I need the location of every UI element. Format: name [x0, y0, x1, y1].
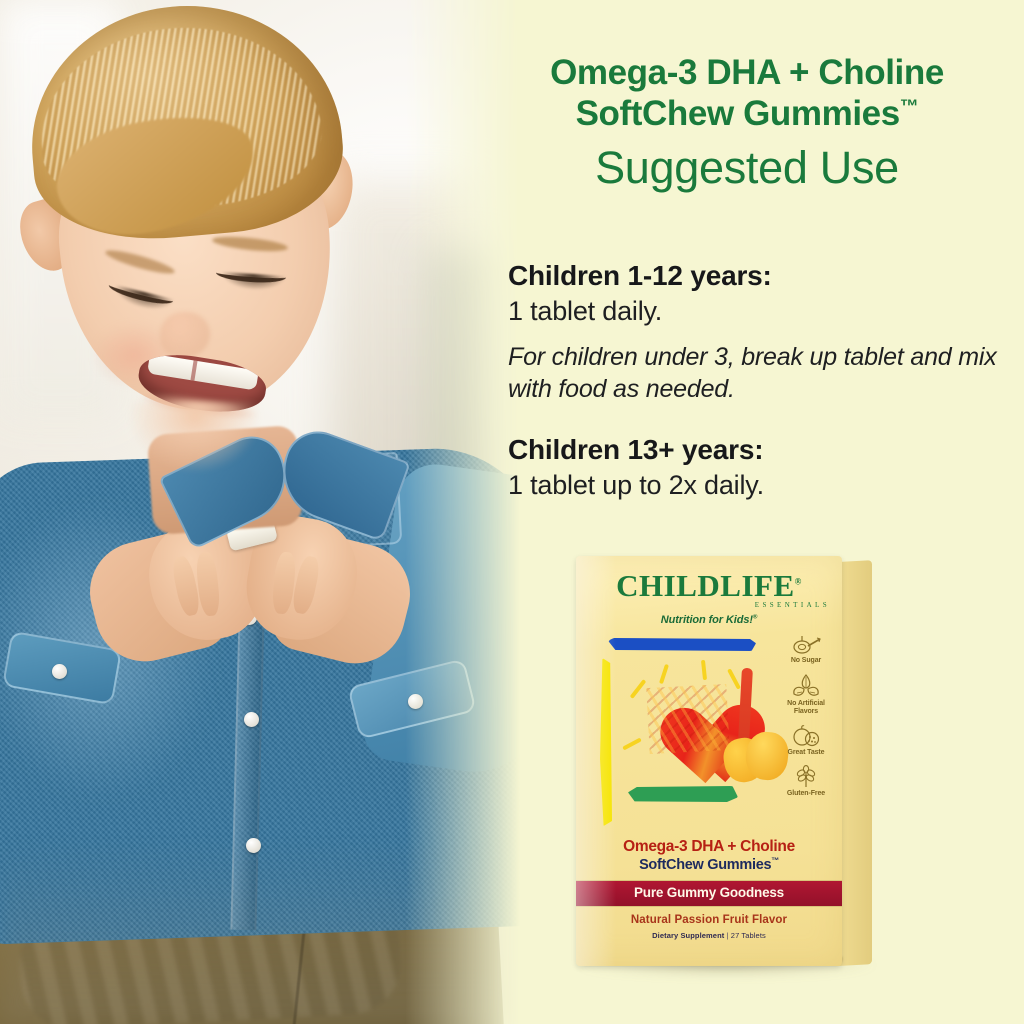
dosage-amount: 1 tablet daily.	[508, 294, 1008, 329]
dosage-note: For children under 3, break up tablet an…	[508, 341, 1008, 406]
dosage-amount: 1 tablet up to 2x daily.	[508, 468, 1008, 503]
product-box-copy: Omega-3 DHA + Choline SoftChew Gummies™ …	[576, 838, 842, 940]
brand-wordmark: CHILDLIFE®	[576, 570, 842, 601]
gluten-free-icon	[791, 765, 821, 789]
brand-life-text: LIFE	[720, 568, 794, 603]
dosage-group-children: Children 1-12 years: 1 tablet daily. For…	[508, 258, 1008, 406]
child-chin	[130, 402, 260, 472]
badge-label: No Sugar	[776, 657, 836, 665]
product-subtitle: SoftChew Gummies™	[576, 856, 842, 874]
photo-floor-shadow	[0, 844, 520, 1024]
cuff-button-right	[408, 694, 423, 709]
supplement-label: Dietary Supplement	[652, 931, 724, 940]
fine-print-separator: |	[727, 931, 729, 940]
brand-child-text: CHILD	[616, 568, 720, 603]
blue-crayon-stroke	[608, 638, 756, 651]
product-box-front: CHILDLIFE® ESSENTIALS Nutrition for Kids…	[576, 556, 842, 966]
product-subtitle-text: SoftChew Gummies	[639, 857, 771, 873]
tablet-count: 27 Tablets	[731, 931, 766, 940]
cuff-button-left	[52, 664, 67, 679]
great-taste-icon	[791, 724, 821, 748]
tagline-registered-mark: ®	[753, 614, 757, 620]
badge-label: Great Taste	[776, 749, 836, 757]
headline-subtitle: Suggested Use	[470, 141, 1024, 195]
product-banner: Pure Gummy Goodness	[576, 880, 842, 907]
headline-line-2-text: SoftChew Gummies	[576, 94, 900, 133]
shirt-button	[244, 712, 259, 727]
no-sugar-icon	[791, 634, 821, 656]
red-heart-drawing	[640, 674, 736, 765]
headline-line-1: Omega-3 DHA + Choline	[470, 52, 1024, 93]
badge-gluten-free: Gluten-Free	[776, 765, 836, 798]
badge-no-sugar: No Sugar	[776, 634, 836, 665]
registered-mark: ®	[795, 577, 802, 587]
no-artificial-flavors-icon	[791, 673, 821, 699]
product-title: Omega-3 DHA + Choline	[576, 838, 842, 855]
headline-block: Omega-3 DHA + Choline SoftChew Gummies™ …	[470, 52, 1024, 195]
child-photo	[0, 0, 520, 1024]
badge-label: No Artificial Flavors	[776, 700, 836, 716]
sun-ray	[622, 738, 642, 751]
headline-line-2: SoftChew Gummies™	[470, 93, 1024, 134]
product-flavor: Natural Passion Fruit Flavor	[576, 914, 842, 926]
badge-label: Gluten-Free	[776, 790, 836, 798]
brand-tagline-text: Nutrition for Kids!	[661, 614, 753, 626]
brand-logo: CHILDLIFE® ESSENTIALS Nutrition for Kids…	[576, 570, 842, 626]
dosage-heading: Children 13+ years:	[508, 432, 1008, 468]
dosage-instructions: Children 1-12 years: 1 tablet daily. For…	[508, 258, 1008, 503]
product-banner-text: Pure Gummy Goodness	[634, 885, 784, 900]
badge-great-taste: Great Taste	[776, 724, 836, 757]
trademark-symbol: ™	[900, 97, 919, 118]
product-trademark-symbol: ™	[771, 856, 779, 865]
product-box-side-panel	[838, 560, 872, 966]
crayon-artwork	[598, 638, 783, 828]
dosage-group-teens: Children 13+ years: 1 tablet up to 2x da…	[508, 432, 1008, 503]
feature-badges: No Sugar No Artificial Flavors	[776, 634, 836, 798]
product-box: CHILDLIFE® ESSENTIALS Nutrition for Kids…	[566, 556, 896, 986]
promo-canvas: Omega-3 DHA + Choline SoftChew Gummies™ …	[0, 0, 1024, 1024]
badge-no-artificial-flavors: No Artificial Flavors	[776, 673, 836, 716]
yellow-crayon-stroke	[600, 658, 612, 826]
green-crayon-stroke	[628, 786, 738, 802]
dosage-heading: Children 1-12 years:	[508, 258, 1008, 294]
dosage-spacer	[508, 406, 1008, 432]
brand-tagline: Nutrition for Kids!®	[576, 614, 842, 626]
product-fine-print: Dietary Supplement | 27 Tablets	[576, 931, 842, 940]
